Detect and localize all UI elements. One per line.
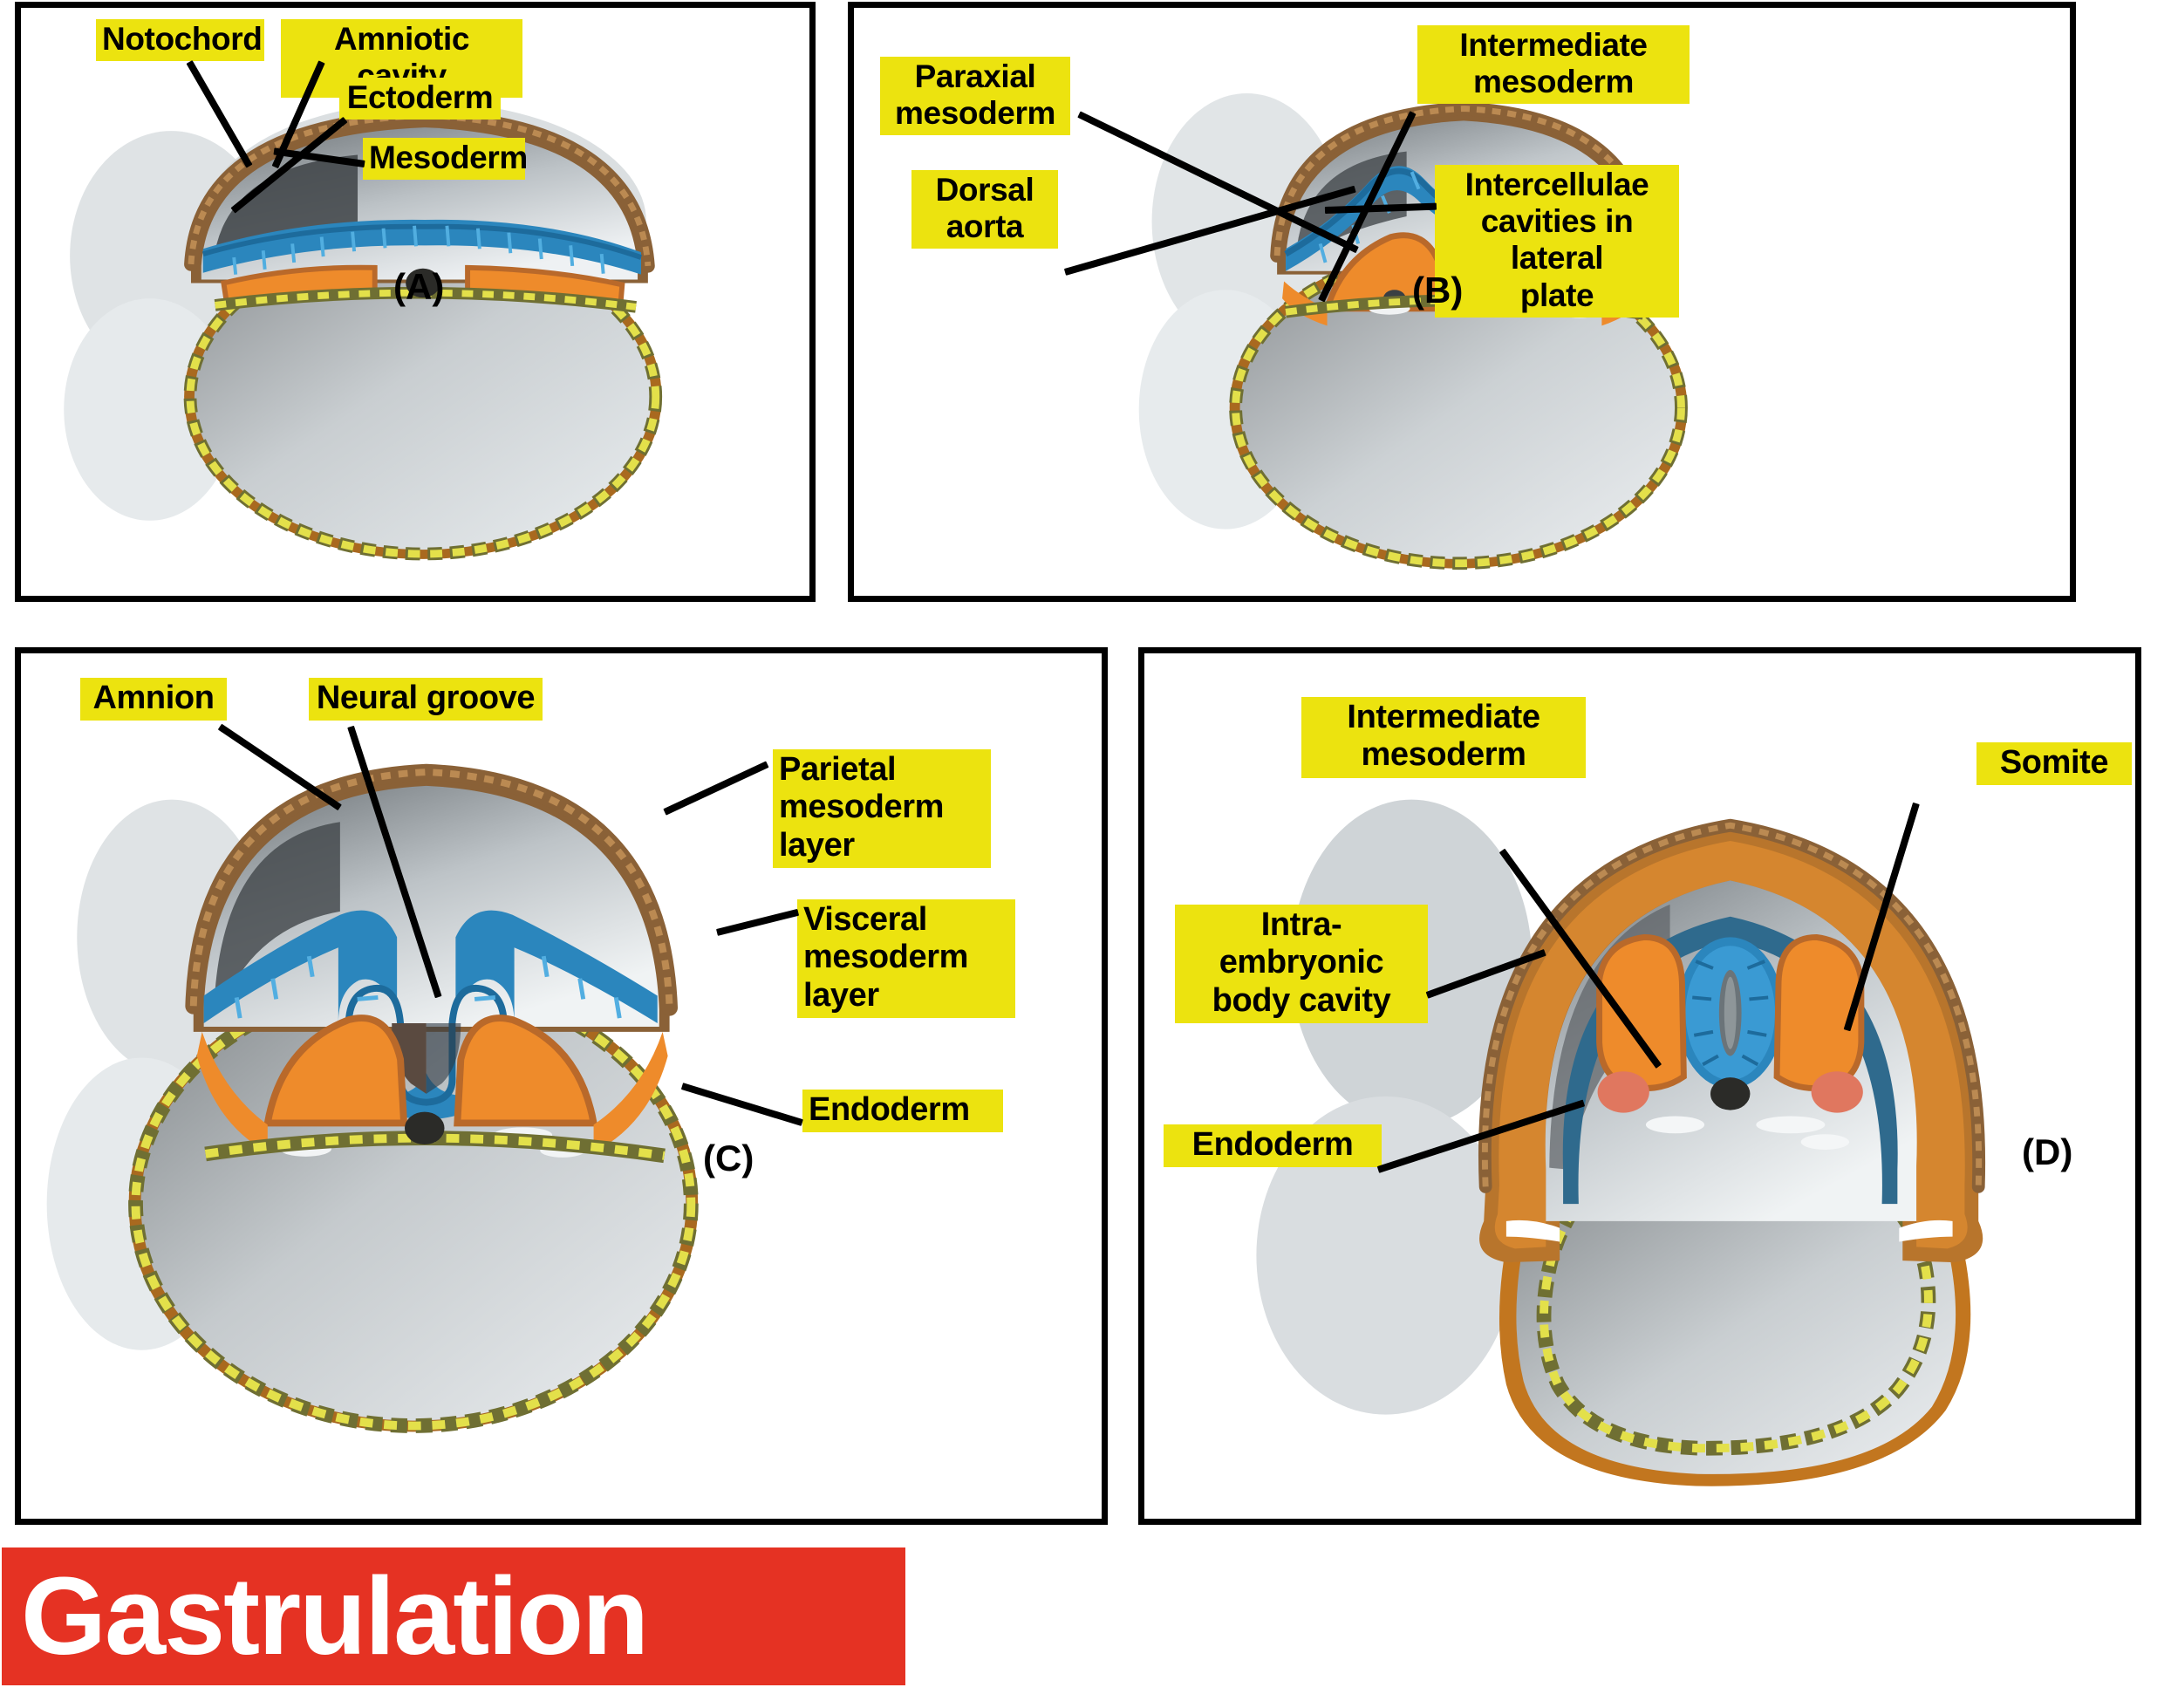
label-neural-groove: Neural groove — [309, 678, 543, 721]
panel-letter-b: (B) — [1412, 270, 1463, 311]
label-somite: Somite — [1976, 742, 2132, 785]
gastrulation-figure: Notochord Amniotic cavity Ectoderm Mesod… — [0, 0, 2171, 1708]
label-intermediate-mesoderm: Intermediate mesoderm — [1301, 697, 1586, 778]
label-visceral-mesoderm-layer: Visceral mesoderm layer — [797, 899, 1015, 1018]
label-intercellulae-cavities: Intercellulae cavities in lateral plate — [1435, 165, 1679, 318]
panel-letter-a: (A) — [393, 266, 444, 308]
title-banner: Gastrulation — [2, 1547, 905, 1685]
panel-letter-d: (D) — [2022, 1131, 2072, 1173]
label-endoderm: Endoderm — [1164, 1124, 1382, 1167]
label-ectoderm: Ectoderm — [339, 78, 501, 120]
label-mesoderm: Mesoderm — [363, 138, 525, 180]
label-amnion: Amnion — [80, 678, 227, 721]
panel-b: Paraxial mesoderm Dorsal aorta Intermedi… — [848, 2, 2076, 602]
title-text: Gastrulation — [2, 1561, 647, 1671]
label-paraxial-mesoderm: Paraxial mesoderm — [880, 57, 1070, 135]
panel-letter-c: (C) — [703, 1138, 754, 1179]
label-intermediate-mesoderm: Intermediate mesoderm — [1417, 25, 1690, 104]
label-intra-embryonic-body-cavity: Intra- embryonic body cavity — [1175, 905, 1428, 1023]
label-parietal-mesoderm-layer: Parietal mesoderm layer — [773, 749, 991, 868]
label-dorsal-aorta: Dorsal aorta — [911, 170, 1058, 249]
label-notochord: Notochord — [96, 19, 264, 61]
label-endoderm: Endoderm — [802, 1090, 1003, 1132]
panel-d: Intermediate mesoderm Somite Intra- embr… — [1138, 647, 2141, 1525]
panel-a: Notochord Amniotic cavity Ectoderm Mesod… — [15, 2, 816, 602]
panel-c: Amnion Neural groove Parietal mesoderm l… — [15, 647, 1108, 1525]
